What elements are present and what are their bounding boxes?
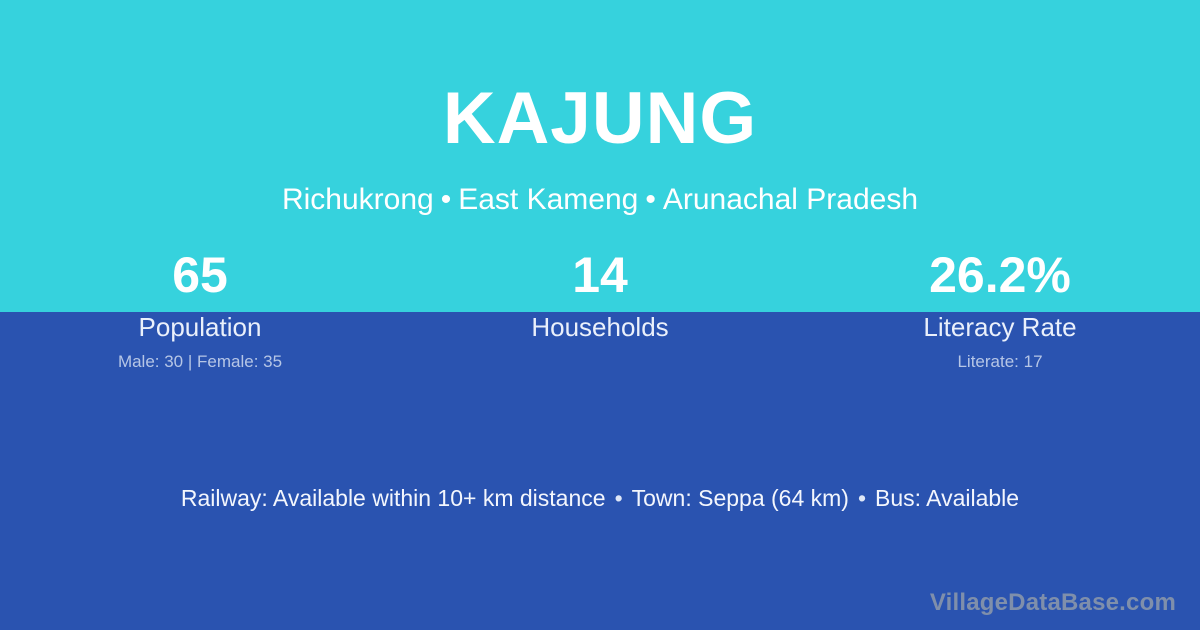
stat-households-label: Households — [400, 312, 800, 343]
village-info-card: KAJUNG Richukrong•East Kameng•Arunachal … — [0, 0, 1200, 630]
stat-literacy-breakdown: Literate: 17 — [800, 352, 1200, 372]
stat-households-value: 14 — [400, 248, 800, 310]
breadcrumb-separator-2: • — [638, 183, 663, 216]
stat-population-value: 65 — [0, 248, 400, 310]
stat-population-breakdown: Male: 30 | Female: 35 — [0, 352, 400, 372]
stats-row: 65 Population Male: 30 | Female: 35 14 H… — [0, 248, 1200, 373]
location-district: East Kameng — [458, 183, 638, 216]
stat-literacy: 26.2% Literacy Rate Literate: 17 — [800, 248, 1200, 373]
amenity-bus: Bus: Available — [875, 485, 1019, 511]
village-title: KAJUNG — [0, 82, 1200, 155]
site-watermark: VillageDataBase.com — [930, 589, 1176, 618]
stat-population-label: Population — [0, 312, 400, 343]
amenity-town: Town: Seppa (64 km) — [632, 485, 849, 511]
stat-literacy-value: 26.2% — [800, 248, 1200, 310]
breadcrumb-separator-1: • — [434, 183, 459, 216]
stat-literacy-label: Literacy Rate — [800, 312, 1200, 343]
amenity-separator-1: • — [606, 485, 632, 511]
amenities-line: Railway: Available within 10+ km distanc… — [0, 484, 1200, 514]
stat-households-breakdown — [400, 352, 800, 372]
amenity-railway: Railway: Available within 10+ km distanc… — [181, 485, 606, 511]
amenity-separator-2: • — [849, 485, 875, 511]
stat-population: 65 Population Male: 30 | Female: 35 — [0, 248, 400, 373]
card-content: KAJUNG Richukrong•East Kameng•Arunachal … — [0, 0, 1200, 630]
location-breadcrumb: Richukrong•East Kameng•Arunachal Pradesh — [0, 182, 1200, 218]
location-state: Arunachal Pradesh — [663, 183, 918, 216]
location-block: Richukrong — [282, 183, 434, 216]
stat-households: 14 Households — [400, 248, 800, 373]
